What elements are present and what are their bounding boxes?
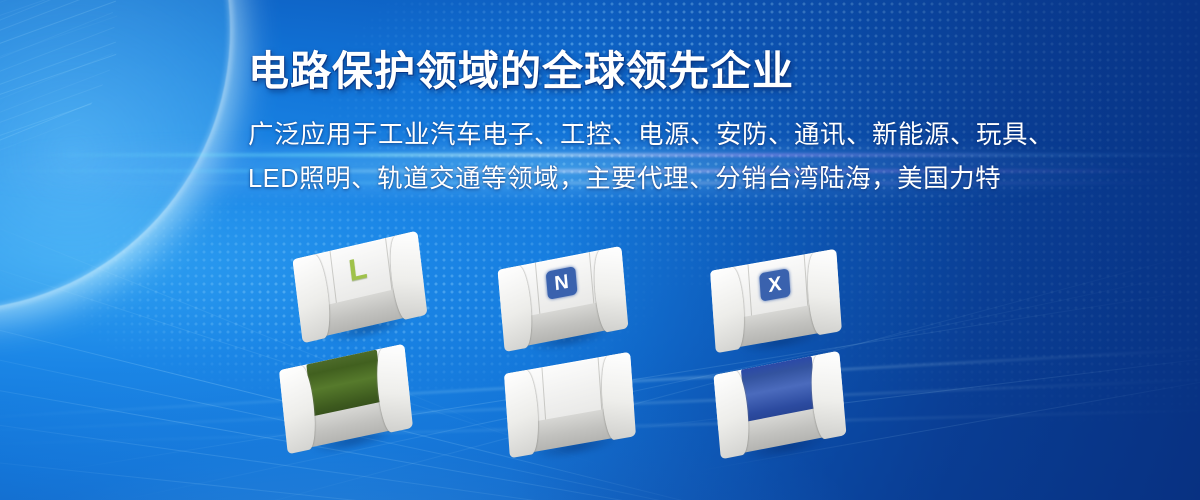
- chip-seam: [542, 367, 547, 426]
- subtitle-line-1: 广泛应用于工业汽车电子、工控、电源、安防、通讯、新能源、玩具、: [248, 114, 1078, 158]
- chip-seam: [748, 264, 753, 322]
- page-title: 电路保护领域的全球领先企业: [248, 46, 1078, 96]
- subtitle-line-2: LED照明、轨道交通等领域，主要代理、分销台湾陆海，美国力特: [248, 158, 1078, 202]
- chip-marking-x: X: [759, 268, 791, 301]
- promo-banner: 电路保护领域的全球领先企业 广泛应用于工业汽车电子、工控、电源、安防、通讯、新能…: [0, 0, 1200, 500]
- banner-copy: 电路保护领域的全球领先企业 广泛应用于工业汽车电子、工控、电源、安防、通讯、新能…: [248, 46, 1078, 202]
- chip-marking-n: N: [546, 266, 578, 300]
- chip-seam: [330, 251, 338, 310]
- chip-seam: [535, 263, 541, 321]
